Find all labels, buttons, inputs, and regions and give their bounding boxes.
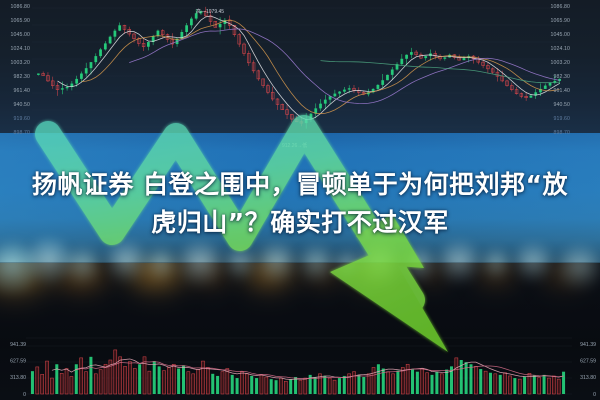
headline-overlay: 扬帆证券 白登之围中，冒顿单于为何把刘邦“放 虎归山”？确实打不过汉军 bbox=[0, 166, 600, 242]
headline-line-1: 扬帆证券 白登之围中，冒顿单于为何把刘邦“放 bbox=[0, 166, 600, 204]
screenshot-stage: 1086.801065.901045.001024.101003.20982.3… bbox=[0, 0, 600, 400]
headline-line-2: 虎归山”？确实打不过汉军 bbox=[0, 204, 600, 242]
